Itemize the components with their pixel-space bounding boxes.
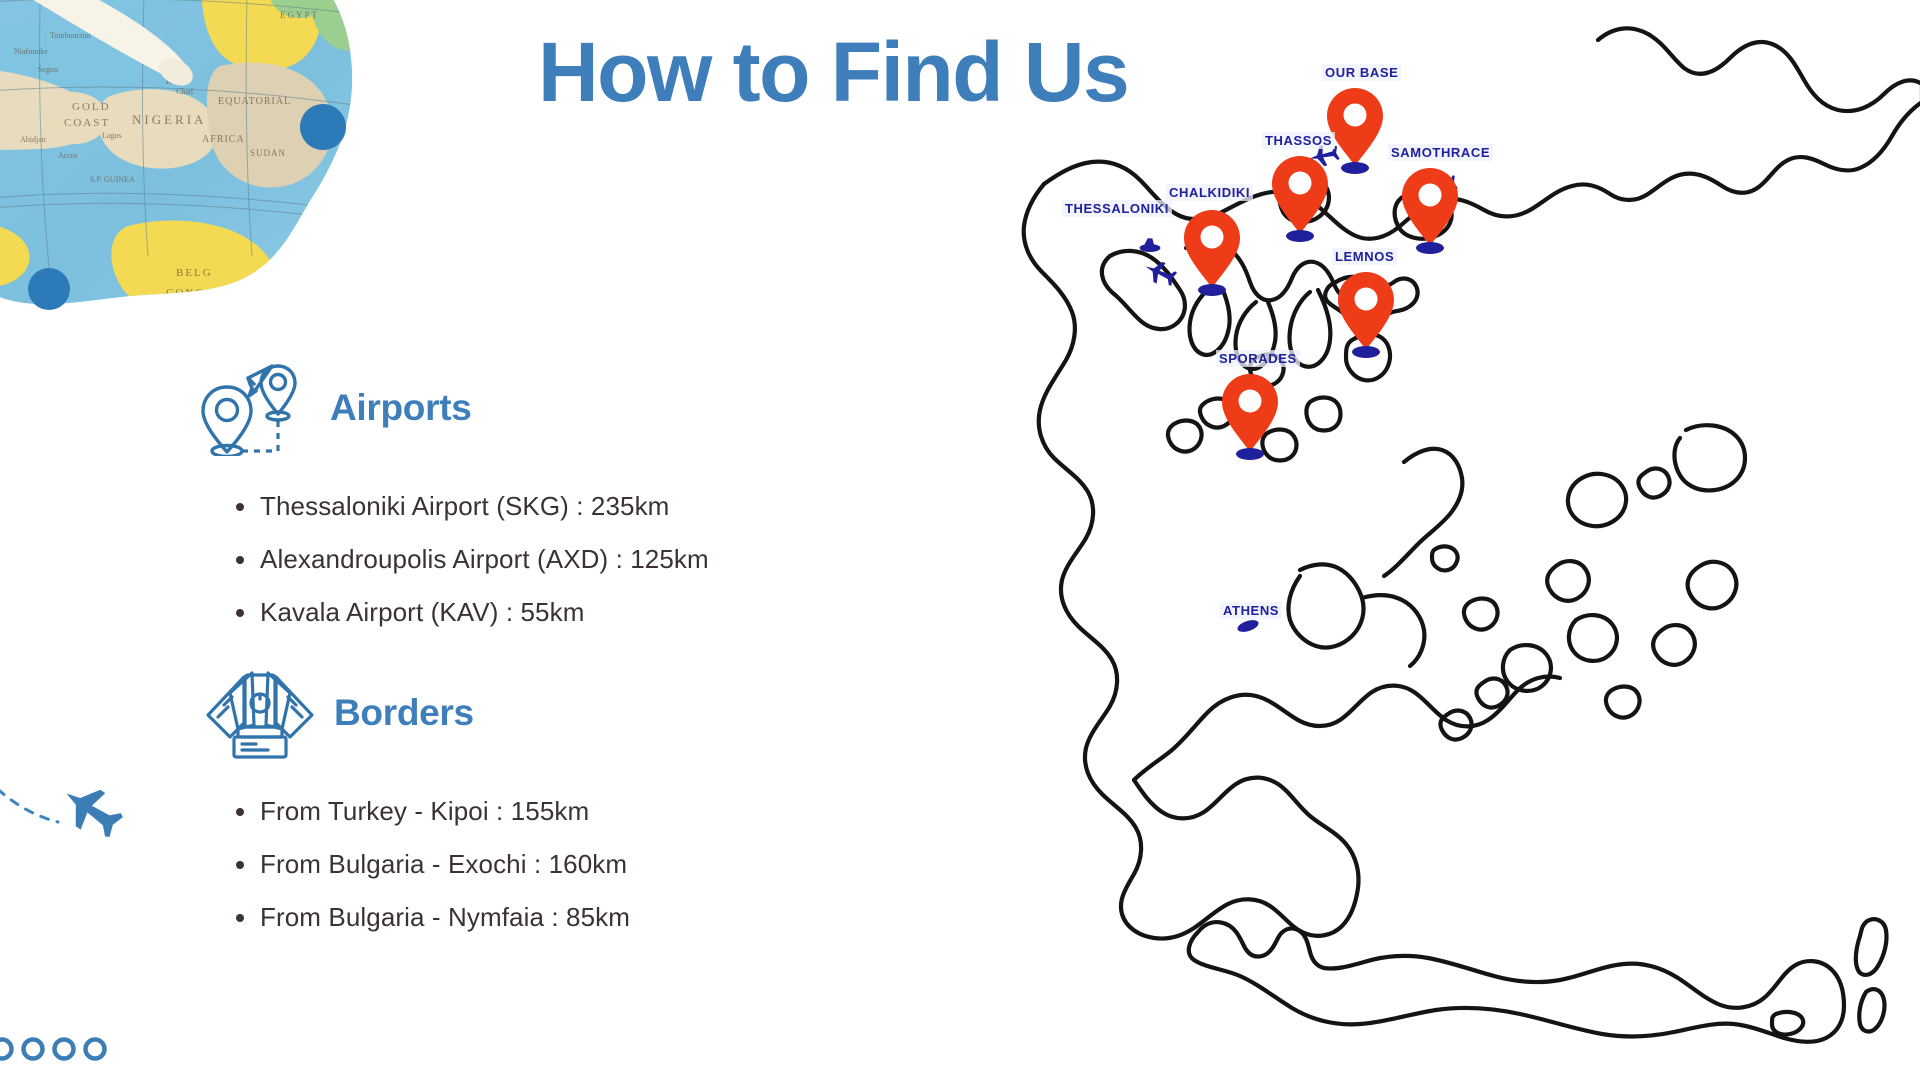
airplane-trail-decoration — [0, 700, 170, 880]
svg-text:NIGERIA: NIGERIA — [132, 112, 206, 127]
list-item: From Bulgaria - Exochi : 160km — [214, 838, 630, 891]
map-label-sporades: SPORADES — [1216, 350, 1300, 367]
list-item: Alexandroupolis Airport (AXD) : 125km — [214, 533, 709, 586]
map-label-thessaloniki: THESSALONIKI — [1062, 200, 1172, 217]
svg-text:Niafounke: Niafounke — [14, 47, 48, 56]
map-label-chalkidiki: CHALKIDIKI — [1166, 184, 1253, 201]
decorative-dot-1 — [300, 104, 346, 150]
svg-text:GOLD: GOLD — [72, 101, 111, 113]
svg-text:Chad: Chad — [176, 87, 193, 96]
borders-title: Borders — [334, 692, 474, 734]
map-label-our-base: OUR BASE — [1322, 64, 1401, 81]
svg-text:S.P. GUINEA: S.P. GUINEA — [90, 175, 135, 184]
svg-text:COAST: COAST — [64, 117, 110, 129]
borders-list: From Turkey - Kipoi : 155km From Bulgari… — [214, 785, 630, 944]
svg-text:Lagos: Lagos — [102, 131, 122, 140]
globe-photo-decoration: GOLD COAST NIGERIA LIBIA EGYPT EQUATORIA… — [0, 0, 450, 366]
svg-text:Accra: Accra — [58, 151, 78, 160]
svg-text:AFRICA: AFRICA — [202, 134, 245, 145]
decorative-dot-2 — [28, 268, 70, 310]
borders-section: Borders From Turkey - Kipoi : 155km From… — [200, 665, 630, 944]
slide-canvas: GOLD COAST NIGERIA LIBIA EGYPT EQUATORIA… — [0, 0, 1920, 1080]
svg-text:Tombouctou: Tombouctou — [50, 31, 90, 40]
map-label-lemnos: LEMNOS — [1332, 248, 1397, 265]
svg-text:Segou: Segou — [38, 65, 58, 74]
list-item: From Bulgaria - Nymfaia : 85km — [214, 891, 630, 944]
airports-section: Airports Thessaloniki Airport (SKG) : 23… — [200, 360, 709, 639]
list-item: From Turkey - Kipoi : 155km — [214, 785, 630, 838]
corner-rings-decoration — [0, 1032, 126, 1066]
passport-documents-icon — [200, 665, 320, 761]
map-label-thassos: THASSOS — [1262, 132, 1335, 149]
map-label-athens: ATHENS — [1220, 602, 1282, 619]
svg-text:BELG: BELG — [176, 267, 213, 279]
borders-heading-row: Borders — [200, 665, 630, 761]
greece-map: OUR BASE THASSOS SAMOTHRACE CHALKIDIKI T… — [1000, 10, 1920, 1080]
airports-heading-row: Airports — [200, 360, 709, 456]
list-item: Kavala Airport (KAV) : 55km — [214, 586, 709, 639]
svg-text:SUDAN: SUDAN — [250, 148, 286, 158]
svg-text:CONGO: CONGO — [166, 287, 215, 299]
list-item: Thessaloniki Airport (SKG) : 235km — [214, 480, 709, 533]
airports-title: Airports — [330, 387, 472, 429]
svg-text:EGYPT: EGYPT — [280, 10, 319, 20]
airports-list: Thessaloniki Airport (SKG) : 235km Alexa… — [214, 480, 709, 639]
svg-text:EQUATORIAL: EQUATORIAL — [218, 96, 291, 107]
svg-text:Abidjan: Abidjan — [20, 135, 46, 144]
map-label-samothrace: SAMOTHRACE — [1388, 144, 1493, 161]
map-pins-route-icon — [200, 360, 312, 456]
